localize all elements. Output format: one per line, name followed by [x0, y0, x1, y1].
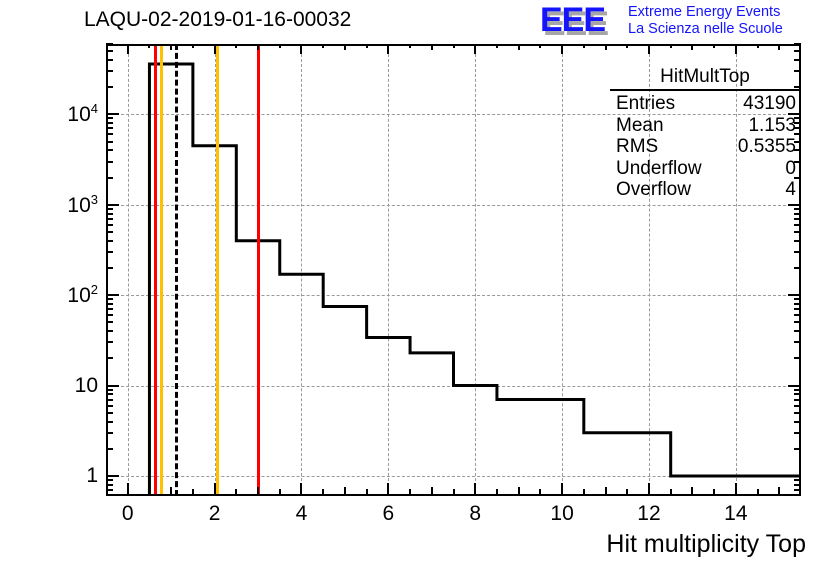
x-tick-9 [518, 487, 520, 496]
y-tick-label-3: 103 [67, 192, 98, 218]
root-canvas: LAQU-02-2019-01-16-00032 EEE EEE Extreme… [0, 0, 836, 572]
y-tick-right-20 [794, 357, 801, 359]
x-tick-top-5 [344, 44, 346, 50]
y-tick-7000 [106, 127, 113, 129]
y-tick-3000 [106, 161, 113, 163]
y-tick-2000 [106, 177, 113, 179]
stats-key: Mean [616, 115, 664, 137]
x-tick-6.5 [409, 489, 411, 496]
y-tick-right-0.9 [794, 479, 801, 481]
y-tick-right-10 [788, 385, 801, 387]
x-tick-13.5 [713, 489, 715, 496]
y-tick-right-8 [794, 393, 801, 395]
y-tick-5 [106, 412, 113, 414]
y-tick-right-1 [788, 475, 801, 477]
x-tick-2.5 [235, 489, 237, 496]
y-tick-4000 [106, 149, 113, 151]
x-tick-8 [474, 483, 476, 496]
x-tick-label-1: 2 [209, 502, 221, 526]
y-tick-right-0.8 [794, 484, 801, 486]
y-tick-900 [106, 208, 113, 210]
y-tick-right-100 [788, 294, 801, 296]
x-tick-8.5 [496, 489, 498, 496]
y-tick-60 [106, 314, 113, 316]
x-tick-top-4 [300, 44, 302, 54]
y-tick-400 [106, 240, 113, 242]
x-tick-5 [344, 487, 346, 496]
stats-value: 1.153 [748, 115, 796, 137]
eee-logo-line1: Extreme Energy Events [628, 4, 783, 21]
y-tick-right-900 [794, 208, 801, 210]
x-tick-top-10 [561, 44, 563, 54]
y-tick-label-1: 10 [75, 374, 98, 398]
x-tick-11.5 [626, 489, 628, 496]
y-tick-right-40 [794, 330, 801, 332]
x-tick-top-6.5 [409, 44, 411, 48]
y-tick-0.8 [106, 484, 113, 486]
y-tick-9000 [106, 117, 113, 119]
x-tick-top-2 [214, 44, 216, 54]
y-tick-0.9 [106, 479, 113, 481]
y-tick-right-200 [794, 267, 801, 269]
y-tick-3 [106, 432, 113, 434]
stats-row: Overflow4 [610, 179, 800, 201]
y-tick-right-70 [794, 308, 801, 310]
x-tick-top-14 [735, 44, 737, 54]
y-tick-9 [106, 389, 113, 391]
x-tick-top-15 [778, 44, 780, 50]
y-tick-right-6 [794, 405, 801, 407]
x-tick-top-0.5 [148, 44, 150, 48]
y-tick-right-300 [794, 251, 801, 253]
stats-rule [610, 89, 800, 91]
y-tick-10 [106, 385, 119, 387]
y-tick-90 [106, 298, 113, 300]
x-tick-1.5 [192, 489, 194, 496]
x-tick-top-13.5 [713, 44, 715, 48]
x-tick-label-6: 12 [637, 502, 660, 526]
x-tick-0 [127, 483, 129, 496]
x-tick-7.5 [453, 489, 455, 496]
x-tick-top-9 [518, 44, 520, 50]
x-tick-top-2.5 [235, 44, 237, 48]
y-tick-right-800 [794, 213, 801, 215]
y-tick-30000 [106, 70, 113, 72]
stats-value: 4 [785, 179, 796, 201]
y-tick-right-50 [794, 321, 801, 323]
y-tick-right-600 [794, 224, 801, 226]
y-tick-7 [106, 399, 113, 401]
page-title: LAQU-02-2019-01-16-00032 [84, 8, 351, 32]
y-tick-50000 [106, 50, 113, 52]
y-tick-20000 [106, 86, 113, 88]
stats-row: Underflow0 [610, 158, 800, 180]
x-tick-top-13 [691, 44, 693, 50]
y-tick-40000 [106, 59, 113, 61]
stats-box: HitMultTop Entries43190Mean1.153RMS0.535… [610, 66, 800, 201]
y-tick-200 [106, 267, 113, 269]
eee-logo-line2: La Scienza nelle Scuole [628, 21, 783, 38]
x-tick-top-12.5 [670, 44, 672, 48]
y-tick-label-0: 1 [86, 464, 98, 488]
x-tick-9.5 [539, 489, 541, 496]
y-tick-right-2 [794, 448, 801, 450]
y-tick-10000 [106, 113, 119, 115]
x-tick-top-10.5 [583, 44, 585, 48]
y-tick-right-3 [794, 432, 801, 434]
x-tick-10 [561, 483, 563, 496]
x-tick-label-5: 10 [550, 502, 573, 526]
stats-rows: Entries43190Mean1.153RMS0.5355Underflow0… [610, 93, 800, 201]
y-tick-4 [106, 421, 113, 423]
x-tick-4 [300, 483, 302, 496]
y-tick-0.7 [106, 489, 113, 491]
x-tick-12 [648, 483, 650, 496]
y-tick-right-50000 [794, 50, 801, 52]
y-tick-8000 [106, 122, 113, 124]
y-tick-right-7 [794, 399, 801, 401]
x-tick-top-5.5 [366, 44, 368, 48]
x-tick-top-3.5 [279, 44, 281, 48]
x-tick-top-1 [170, 44, 172, 50]
x-tick-top-7 [431, 44, 433, 50]
stats-key: Entries [616, 93, 675, 115]
x-tick-top-8 [474, 44, 476, 54]
x-tick-label-4: 8 [469, 502, 481, 526]
x-tick-top-14.5 [757, 44, 759, 48]
x-tick-top-11 [605, 44, 607, 50]
x-tick-6 [387, 483, 389, 496]
y-tick-700 [106, 218, 113, 220]
y-tick-2 [106, 448, 113, 450]
y-tick-right-500 [794, 231, 801, 233]
eee-logo: EEE EEE Extreme Energy Events La Scienza… [540, 2, 832, 40]
x-tick-top-0 [127, 44, 129, 54]
y-tick-label-2: 102 [67, 282, 98, 308]
x-tick-11 [605, 487, 607, 496]
x-axis-title: Hit multiplicity Top [606, 530, 806, 559]
y-tick-800 [106, 213, 113, 215]
stats-value: 0 [785, 158, 796, 180]
y-tick-600 [106, 224, 113, 226]
stats-value: 0.5355 [738, 136, 796, 158]
y-tick-1000 [106, 204, 119, 206]
x-tick-14.5 [757, 489, 759, 496]
y-tick-80 [106, 303, 113, 305]
y-tick-right-0.7 [794, 489, 801, 491]
x-tick-label-3: 6 [383, 502, 395, 526]
x-tick-4.5 [322, 489, 324, 496]
x-tick-1 [170, 487, 172, 496]
y-tick-20 [106, 357, 113, 359]
x-tick-15 [778, 487, 780, 496]
eee-logo-mark-front: EEE [540, 3, 605, 37]
x-tick-10.5 [583, 489, 585, 496]
x-tick-top-11.5 [626, 44, 628, 48]
x-tick-label-7: 14 [724, 502, 747, 526]
y-tick-right-90 [794, 298, 801, 300]
stats-row: Entries43190 [610, 93, 800, 115]
y-tick-5000 [106, 141, 113, 143]
y-tick-50 [106, 321, 113, 323]
y-tick-right-5 [794, 412, 801, 414]
y-tick-right-60 [794, 314, 801, 316]
x-tick-top-1.5 [192, 44, 194, 48]
y-tick-300 [106, 251, 113, 253]
x-tick-5.5 [366, 489, 368, 496]
y-tick-40 [106, 330, 113, 332]
eee-logo-text: Extreme Energy Events La Scienza nelle S… [628, 4, 783, 38]
x-tick-top-9.5 [539, 44, 541, 48]
x-tick-12.5 [670, 489, 672, 496]
x-tick-13 [691, 487, 693, 496]
stats-key: RMS [616, 136, 658, 158]
x-tick-label-2: 4 [296, 502, 308, 526]
x-tick-2 [214, 483, 216, 496]
y-tick-right-30 [794, 341, 801, 343]
y-tick-500 [106, 231, 113, 233]
y-tick-right-40000 [794, 59, 801, 61]
stats-row: RMS0.5355 [610, 136, 800, 158]
y-tick-1 [106, 475, 119, 477]
stats-value: 43190 [743, 93, 796, 115]
x-tick-top-8.5 [496, 44, 498, 48]
y-tick-70 [106, 308, 113, 310]
x-tick-top-7.5 [453, 44, 455, 48]
x-tick-14 [735, 483, 737, 496]
y-tick-100 [106, 294, 119, 296]
y-tick-right-400 [794, 240, 801, 242]
y-tick-60000 [106, 43, 113, 45]
x-tick-3 [257, 487, 259, 496]
x-tick-top-12 [648, 44, 650, 54]
x-tick-top-4.5 [322, 44, 324, 48]
y-tick-right-700 [794, 218, 801, 220]
x-tick-0.5 [148, 489, 150, 496]
x-tick-3.5 [279, 489, 281, 496]
stats-key: Underflow [616, 158, 702, 180]
stats-key: Overflow [616, 179, 691, 201]
y-tick-6 [106, 405, 113, 407]
y-tick-right-1000 [788, 204, 801, 206]
y-tick-label-4: 104 [67, 101, 98, 127]
x-tick-7 [431, 487, 433, 496]
y-tick-right-9 [794, 389, 801, 391]
y-tick-right-60000 [794, 43, 801, 45]
x-tick-top-6 [387, 44, 389, 54]
y-tick-right-4 [794, 421, 801, 423]
y-tick-30 [106, 341, 113, 343]
y-tick-8 [106, 393, 113, 395]
x-tick-top-3 [257, 44, 259, 50]
stats-row: Mean1.153 [610, 115, 800, 137]
stats-title: HitMultTop [610, 66, 800, 89]
x-tick-label-0: 0 [122, 502, 134, 526]
y-tick-6000 [106, 133, 113, 135]
y-tick-right-80 [794, 303, 801, 305]
